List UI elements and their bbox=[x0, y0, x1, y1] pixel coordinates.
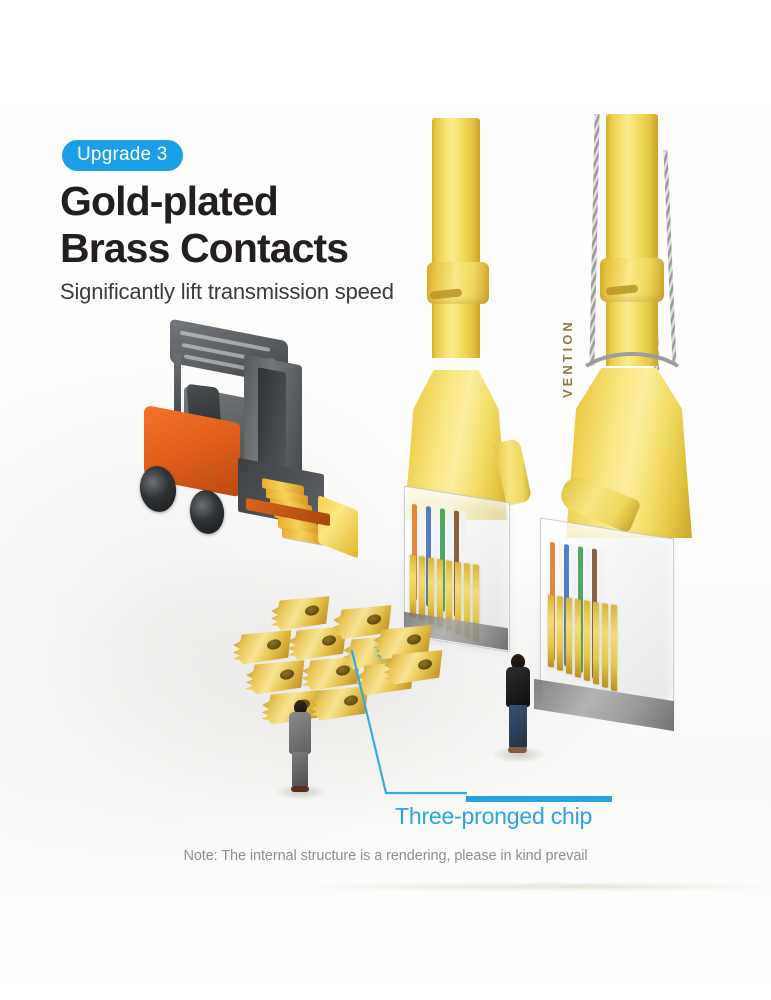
strain-relief-collar-right bbox=[600, 258, 664, 302]
person-torso bbox=[289, 712, 311, 754]
person-torso bbox=[506, 667, 530, 707]
floor-horizon-line bbox=[300, 884, 771, 889]
subheading: Significantly lift transmission speed bbox=[60, 279, 394, 305]
gold-contact-blades-right bbox=[548, 595, 617, 692]
person-legs bbox=[509, 705, 527, 749]
person-legs bbox=[292, 752, 308, 788]
forklift-illustration bbox=[126, 318, 340, 558]
gold-contact-chip bbox=[245, 658, 304, 695]
brand-logo-text: VENTION bbox=[560, 319, 575, 398]
gold-contact-chip bbox=[232, 628, 291, 665]
person-shoes bbox=[508, 747, 527, 753]
cable-braid-shield-strand bbox=[589, 114, 599, 366]
headline-line-2: Brass Contacts bbox=[60, 225, 480, 272]
callout-underline-bar bbox=[466, 796, 612, 802]
person-shoes bbox=[291, 786, 309, 792]
person-man-in-suit bbox=[283, 700, 317, 792]
ethernet-cable-right bbox=[606, 114, 658, 366]
page-title: Gold-plated Brass Contacts bbox=[60, 178, 480, 271]
forklift-wheel bbox=[187, 488, 227, 536]
cable-braid-shield-strand bbox=[664, 150, 677, 365]
headline-line-1: Gold-plated bbox=[60, 178, 278, 224]
person-casual bbox=[500, 654, 536, 754]
upgrade-badge: Upgrade 3 bbox=[62, 140, 183, 171]
disclaimer-note: Note: The internal structure is a render… bbox=[0, 848, 771, 864]
callout-label: Three-pronged chip bbox=[395, 803, 592, 830]
product-feature-image: VENTION bbox=[0, 0, 771, 1000]
gold-contact-chip bbox=[287, 624, 346, 661]
gold-contact-chip bbox=[270, 594, 329, 631]
